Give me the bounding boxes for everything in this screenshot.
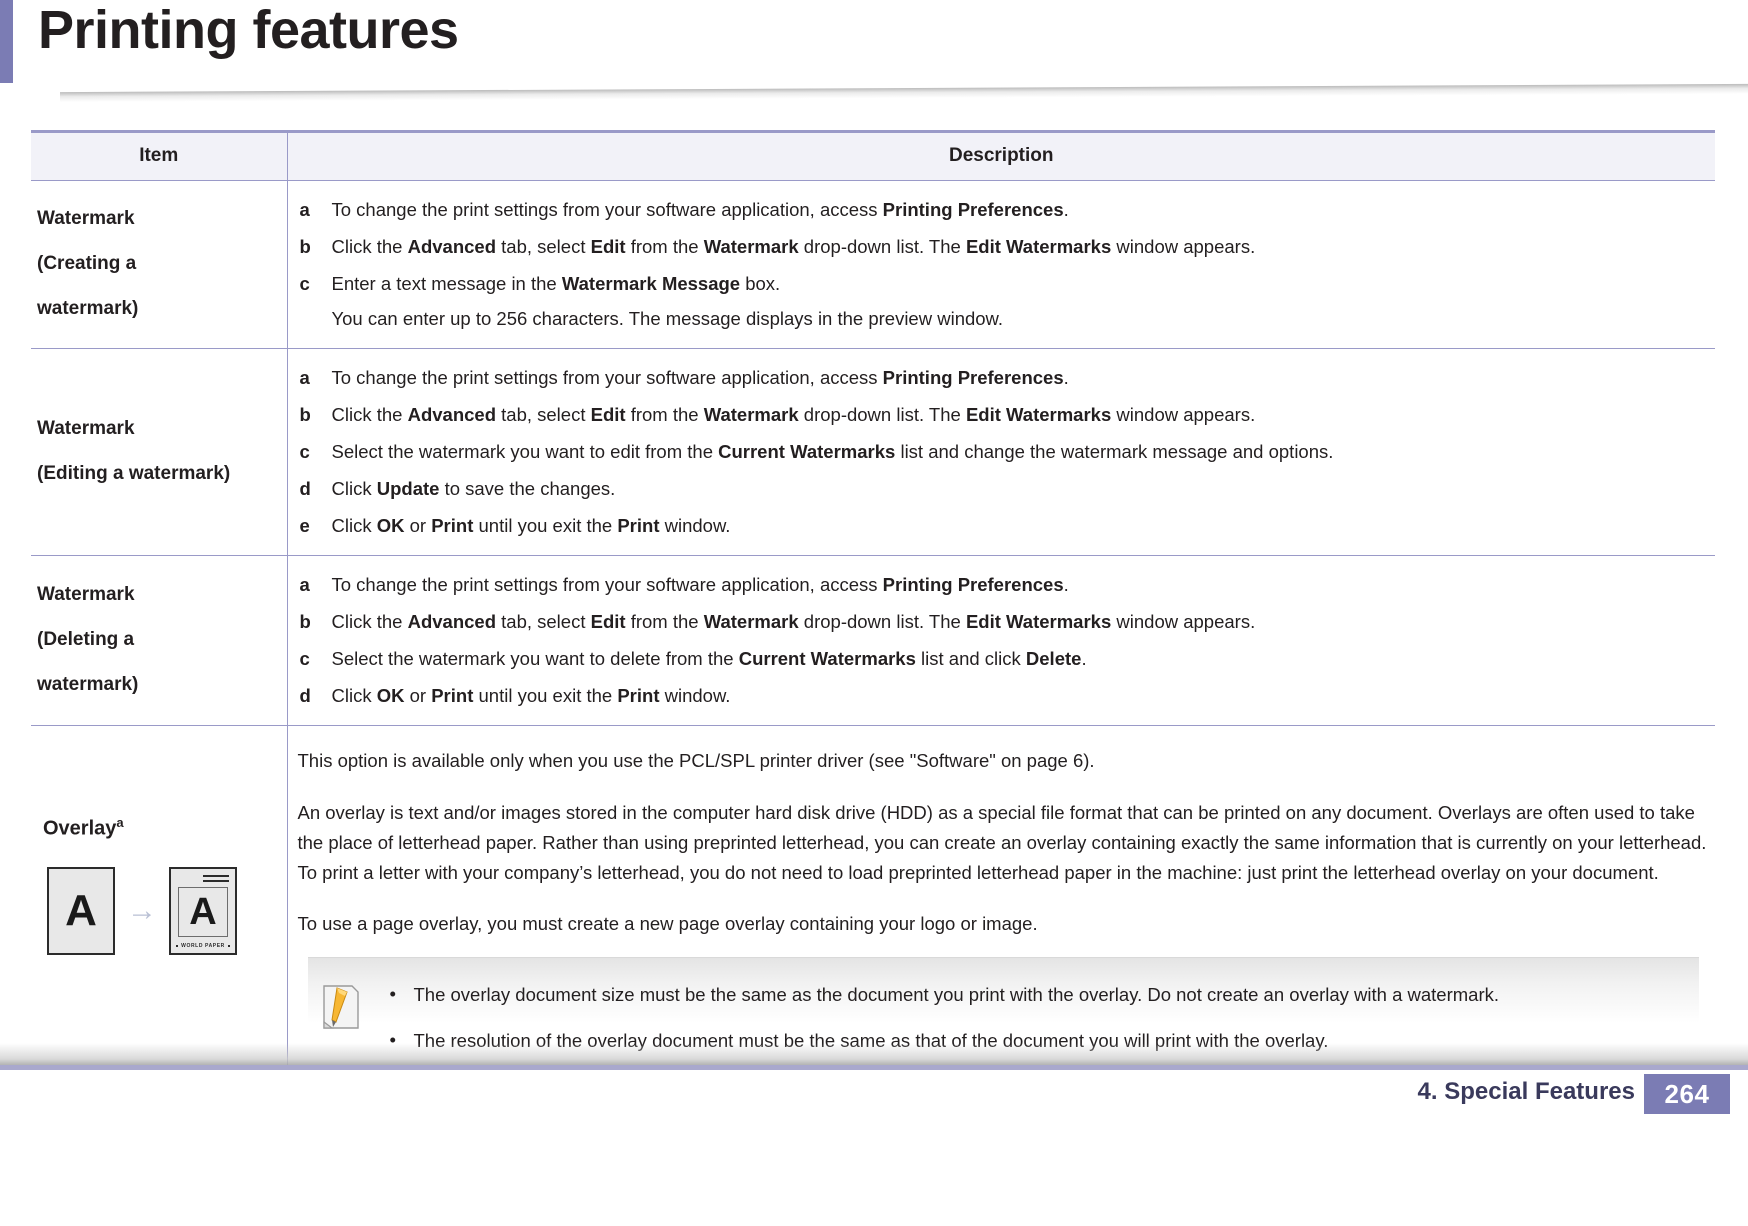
step-text: Click the Advanced tab, select Edit from… (332, 404, 1256, 425)
footer-page-number: 264 (1644, 1074, 1730, 1114)
overlay-paragraph: An overlay is text and/or images stored … (298, 798, 1708, 888)
note-pencil-icon (320, 984, 362, 1034)
step-item: aTo change the print settings from your … (298, 570, 1708, 600)
page-letter-glyph: A (65, 889, 97, 933)
arrow-right-icon: → (127, 896, 157, 926)
overlay-paragraph: To use a page overlay, you must create a… (298, 909, 1708, 939)
item-label-line: (Deleting a (37, 625, 277, 656)
step-text: Click OK or Print until you exit the Pri… (332, 685, 731, 706)
step-text: Click Update to save the changes. (332, 478, 616, 499)
table-body: Watermark (Creating a watermark) aTo cha… (31, 181, 1715, 1105)
table-header-row: Item Description (31, 132, 1715, 181)
step-text: Click the Advanced tab, select Edit from… (332, 611, 1256, 632)
step-text: To change the print settings from your s… (332, 199, 1069, 220)
item-label-line: (Editing a watermark) (37, 459, 277, 490)
step-marker: b (300, 400, 311, 430)
step-marker: b (300, 232, 311, 262)
step-list: aTo change the print settings from your … (298, 363, 1708, 541)
item-label-line: watermark) (37, 670, 277, 701)
column-header-description: Description (287, 132, 1715, 181)
page-letter-glyph: A (189, 893, 216, 931)
step-text: To change the print settings from your s… (332, 574, 1069, 595)
page-accent-bar (0, 0, 13, 83)
step-item: aTo change the print settings from your … (298, 195, 1708, 225)
step-subtext: You can enter up to 256 characters. The … (332, 304, 1708, 334)
step-item: bClick the Advanced tab, select Edit fro… (298, 607, 1708, 637)
step-item: cSelect the watermark you want to edit f… (298, 437, 1708, 467)
letterhead-footer-text: WORLD PAPER (181, 942, 225, 950)
step-marker: e (300, 511, 310, 541)
overlay-footnote-marker: a (116, 815, 123, 830)
step-text: To change the print settings from your s… (332, 367, 1069, 388)
item-label-line: Watermark (37, 580, 277, 611)
column-header-item: Item (31, 132, 287, 181)
step-item: bClick the Advanced tab, select Edit fro… (298, 400, 1708, 430)
step-text: Click OK or Print until you exit the Pri… (332, 515, 731, 536)
note-item: • The overlay document size must be the … (384, 980, 1686, 1010)
step-marker: c (300, 437, 310, 467)
letterhead-footer-strip: WORLD PAPER (176, 942, 230, 950)
footer-gradient (0, 1043, 1748, 1065)
item-label-line: Watermark (37, 204, 277, 235)
table-row: Watermark (Deleting a watermark) aTo cha… (31, 555, 1715, 725)
title-divider (60, 84, 1748, 102)
step-marker: d (300, 681, 311, 711)
row-description-cell: aTo change the print settings from your … (287, 348, 1715, 555)
letterhead-page-icon: A WORLD PAPER (169, 867, 237, 955)
table-row: Watermark (Editing a watermark) aTo chan… (31, 348, 1715, 555)
row-item-cell: Watermark (Creating a watermark) (31, 181, 287, 349)
step-marker: d (300, 474, 311, 504)
step-item: bClick the Advanced tab, select Edit fro… (298, 232, 1708, 262)
row-item-cell: Watermark (Editing a watermark) (31, 348, 287, 555)
step-marker: c (300, 269, 310, 299)
step-item: dClick OK or Print until you exit the Pr… (298, 681, 1708, 711)
overlay-label: Overlaya (37, 812, 277, 845)
step-list: aTo change the print settings from your … (298, 570, 1708, 711)
row-description-cell: aTo change the print settings from your … (287, 555, 1715, 725)
step-marker: a (300, 363, 310, 393)
footer-section-label: 4. Special Features (1418, 1078, 1635, 1106)
letterhead-header-lines-icon (203, 875, 229, 885)
step-text: Select the watermark you want to edit fr… (332, 441, 1334, 462)
step-item: aTo change the print settings from your … (298, 363, 1708, 393)
row-item-cell: Watermark (Deleting a watermark) (31, 555, 287, 725)
row-description-cell: aTo change the print settings from your … (287, 181, 1715, 349)
step-text: Click the Advanced tab, select Edit from… (332, 236, 1256, 257)
step-item: dClick Update to save the changes. (298, 474, 1708, 504)
step-marker: b (300, 607, 311, 637)
document-page-icon: A (47, 867, 115, 955)
overlay-paragraph: This option is available only when you u… (298, 746, 1708, 776)
step-text: Enter a text message in the Watermark Me… (332, 273, 781, 294)
table-row: Watermark (Creating a watermark) aTo cha… (31, 181, 1715, 349)
overlay-figure: A → A WORLD PAPER (37, 867, 277, 955)
letterhead-inner-frame: A (178, 887, 228, 937)
step-list: aTo change the print settings from your … (298, 195, 1708, 334)
overlay-label-text: Overlay (43, 817, 116, 839)
printing-features-table: Item Description Watermark (Creating a w… (31, 130, 1715, 1106)
note-item-text: The overlay document size must be the sa… (414, 984, 1500, 1005)
item-label-line: (Creating a (37, 249, 277, 280)
step-item: eClick OK or Print until you exit the Pr… (298, 511, 1708, 541)
step-item: cEnter a text message in the Watermark M… (298, 269, 1708, 334)
step-text: Select the watermark you want to delete … (332, 648, 1087, 669)
step-marker: a (300, 570, 310, 600)
item-label-line: watermark) (37, 294, 277, 325)
step-marker: a (300, 195, 310, 225)
item-label-line: Watermark (37, 414, 277, 445)
bullet-icon: • (390, 979, 396, 1009)
step-marker: c (300, 644, 310, 674)
page-title: Printing features (38, 2, 459, 59)
step-item: cSelect the watermark you want to delete… (298, 644, 1708, 674)
